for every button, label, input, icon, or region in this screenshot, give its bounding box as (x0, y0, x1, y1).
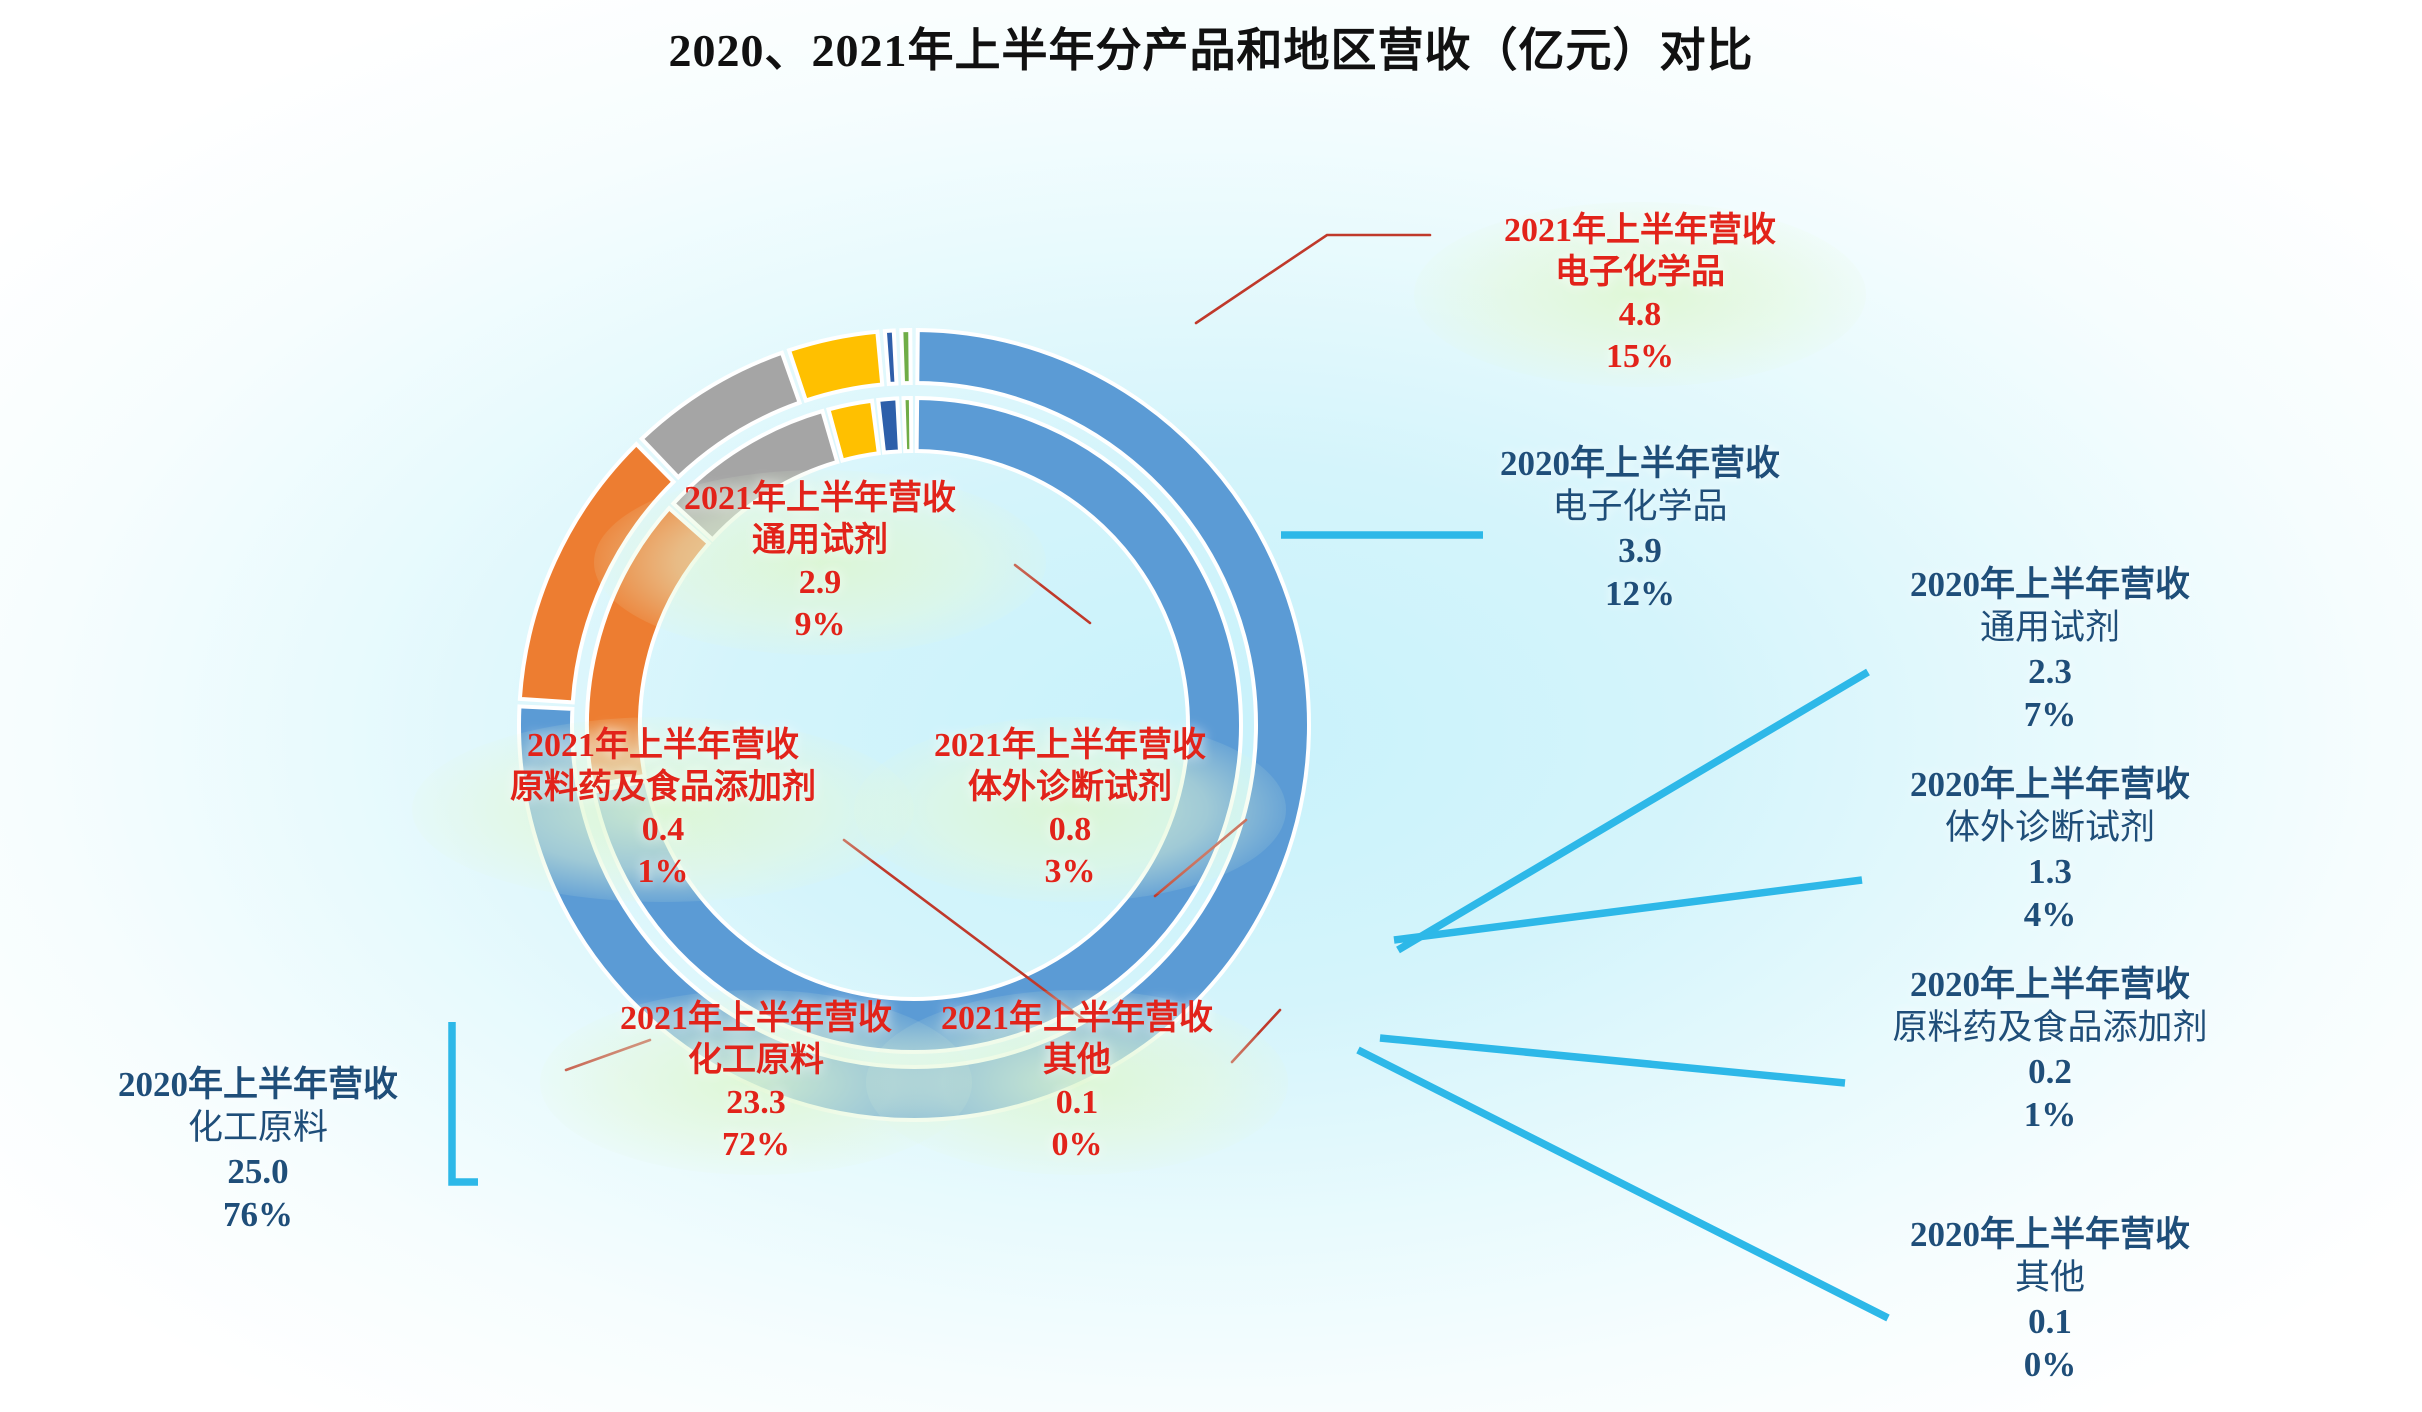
label-2021-ivd-reagent: 2021年上半年营收 体外诊断试剂 0.8 3% (880, 725, 1260, 894)
label-2020-api-food-additive: 2020年上半年营收 原料药及食品添加剂 0.2 1% (1818, 963, 2282, 1137)
leader-2020-other (1358, 1050, 1888, 1318)
leader-2021-electronic-chem (1196, 235, 1430, 323)
page-title: 2020、2021年上半年分产品和地区营收（亿元）对比 (0, 14, 2422, 80)
label-2020-other: 2020年上半年营收 其他 0.1 0% (1840, 1213, 2260, 1387)
label-2020-general-reagent: 2020年上半年营收 通用试剂 2.3 7% (1840, 563, 2260, 737)
leader-2020-api-food (1380, 1038, 1845, 1083)
label-2021-other: 2021年上半年营收 其他 0.1 0% (892, 998, 1262, 1167)
label-2020-electronic-chem: 2020年上半年营收 电子化学品 3.9 12% (1430, 442, 1850, 616)
label-2020-chemical-raw: 2020年上半年营收 化工原料 25.0 76% (58, 1063, 458, 1237)
doughnut-chart-stage: 2020、2021年上半年分产品和地区营收（亿元）对比 2021年上半年营收 电… (0, 0, 2422, 1412)
label-2020-ivd-reagent: 2020年上半年营收 体外诊断试剂 1.3 4% (1840, 763, 2260, 937)
label-2021-general-reagent: 2021年上半年营收 通用试剂 2.9 9% (620, 478, 1020, 647)
label-2021-electronic-chem: 2021年上半年营收 电子化学品 4.8 15% (1440, 210, 1840, 379)
label-2021-api-food-additive: 2021年上半年营收 原料药及食品添加剂 0.4 1% (438, 725, 888, 894)
